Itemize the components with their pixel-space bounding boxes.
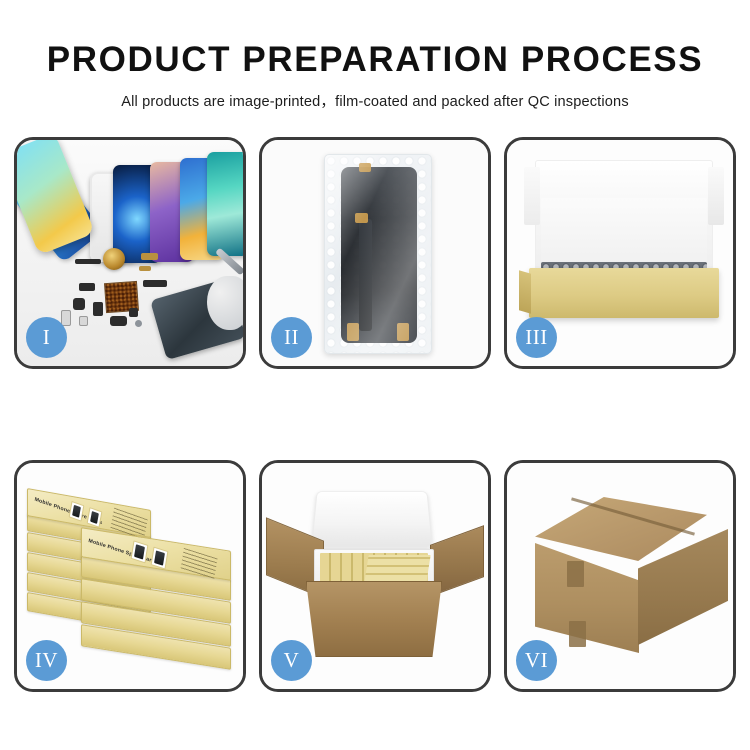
lcd-screen-assembly (341, 167, 417, 343)
step-badge-5: V (271, 640, 312, 681)
connector-part (79, 283, 95, 291)
step-panel-3: III (504, 137, 736, 369)
carton-body (306, 581, 442, 657)
tape-tab (359, 163, 371, 172)
step-badge-4: IV (26, 640, 67, 681)
camera-module-part (73, 298, 85, 310)
page-subtitle: All products are image-printed，film-coat… (0, 90, 750, 111)
step-panel-4: Mobile Phone Spare Parts Mobile Phone Sp… (14, 460, 246, 692)
process-steps-grid: I II (14, 137, 736, 693)
flex-cable-part (93, 302, 103, 316)
phone-screen-teal (207, 152, 243, 256)
bubble-wrap-bag (324, 154, 432, 354)
carton-tape-lower (569, 621, 586, 647)
yellow-box-tray (529, 268, 719, 318)
flex-strip-part (75, 259, 101, 264)
box-screen-window (151, 547, 169, 570)
tape-tab (347, 323, 359, 341)
step-panel-6: VI (504, 460, 736, 692)
step-badge-3: III (516, 317, 557, 358)
step-panel-1: I (14, 137, 246, 369)
gold-contact-part (139, 266, 151, 271)
carton-front-face (535, 543, 639, 653)
display-flex-cable (359, 219, 372, 331)
header: PRODUCT PREPARATION PROCESS All products… (0, 0, 750, 111)
foam-lid (311, 491, 433, 548)
page-title: PRODUCT PREPARATION PROCESS (0, 42, 750, 79)
gold-contact-part (141, 253, 158, 260)
speaker-part (110, 316, 127, 326)
step-badge-2: II (271, 317, 312, 358)
ribbon-cable-part (143, 280, 167, 287)
step-panel-2: II (259, 137, 491, 369)
screw-part (135, 320, 142, 327)
step-badge-1: I (26, 317, 67, 358)
speaker-coil-part (103, 248, 125, 270)
box-screen-window (131, 540, 149, 563)
step-panel-5: V (259, 460, 491, 692)
tape-tab (397, 323, 409, 341)
step-badge-6: VI (516, 640, 557, 681)
bracket-part (79, 316, 88, 326)
tape-tab (355, 213, 368, 223)
foam-sheet (541, 198, 707, 270)
carton-tape-upper (567, 561, 584, 587)
sim-tray-part (61, 310, 71, 326)
small-chip-part (129, 308, 138, 317)
product-preparation-infographic: PRODUCT PREPARATION PROCESS All products… (0, 0, 750, 750)
